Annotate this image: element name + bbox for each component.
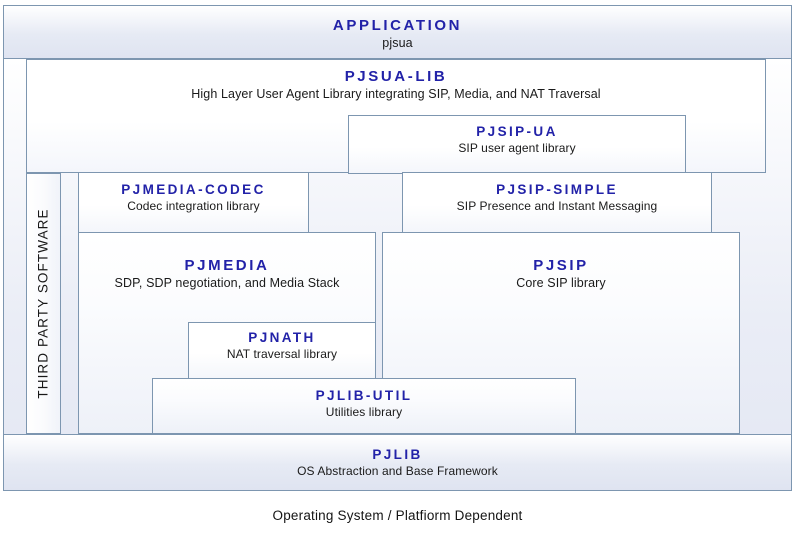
- third-party-software-label: THIRD PARTY SOFTWARE: [36, 208, 51, 398]
- layer-pjlib-util-description: Utilities library: [153, 406, 575, 420]
- layer-pjmedia-title: PJMEDIA: [79, 257, 375, 274]
- layer-pjsua-lib-description: High Layer User Agent Library integratin…: [27, 87, 765, 101]
- layer-pjnath-title: PJNATH: [189, 330, 375, 346]
- layer-pjsip-ua[interactable]: PJSIP-UA SIP user agent library: [348, 115, 686, 174]
- layer-pjsip-simple-title: PJSIP-SIMPLE: [403, 182, 711, 198]
- layer-pjmedia-codec-title: PJMEDIA-CODEC: [79, 182, 308, 198]
- layer-pjlib-util-title: PJLIB-UTIL: [153, 388, 575, 404]
- layer-pjsip-title: PJSIP: [383, 257, 739, 274]
- architecture-diagram: APPLICATION pjsua PJSUA-LIB High Layer U…: [0, 0, 795, 545]
- layer-pjsip-ua-description: SIP user agent library: [349, 142, 685, 156]
- layer-pjlib-util[interactable]: PJLIB-UTIL Utilities library: [152, 378, 576, 434]
- layer-pjmedia-codec-description: Codec integration library: [79, 200, 308, 214]
- layer-application-title: APPLICATION: [4, 17, 791, 34]
- layer-pjsip-simple-description: SIP Presence and Instant Messaging: [403, 200, 711, 214]
- layer-pjnath[interactable]: PJNATH NAT traversal library: [188, 322, 376, 379]
- third-party-software-band[interactable]: THIRD PARTY SOFTWARE: [26, 173, 61, 434]
- layer-pjmedia-codec[interactable]: PJMEDIA-CODEC Codec integration library: [78, 172, 309, 233]
- layer-pjsip-simple[interactable]: PJSIP-SIMPLE SIP Presence and Instant Me…: [402, 172, 712, 233]
- layer-pjsip-ua-title: PJSIP-UA: [349, 124, 685, 140]
- layer-pjlib-title: PJLIB: [4, 447, 791, 463]
- layer-pjsua-lib-title: PJSUA-LIB: [27, 68, 765, 85]
- layer-pjnath-description: NAT traversal library: [189, 348, 375, 362]
- footer-caption: Operating System / Platfiorm Dependent: [0, 508, 795, 523]
- layer-pjlib[interactable]: PJLIB OS Abstraction and Base Framework: [3, 434, 792, 491]
- layer-pjsip-description: Core SIP library: [383, 276, 739, 290]
- layer-pjlib-description: OS Abstraction and Base Framework: [4, 465, 791, 479]
- footer-caption-text: Operating System / Platfiorm Dependent: [273, 508, 523, 523]
- layer-application[interactable]: APPLICATION pjsua: [3, 5, 792, 59]
- layer-application-description: pjsua: [4, 36, 791, 50]
- layer-pjmedia-description: SDP, SDP negotiation, and Media Stack: [79, 276, 375, 290]
